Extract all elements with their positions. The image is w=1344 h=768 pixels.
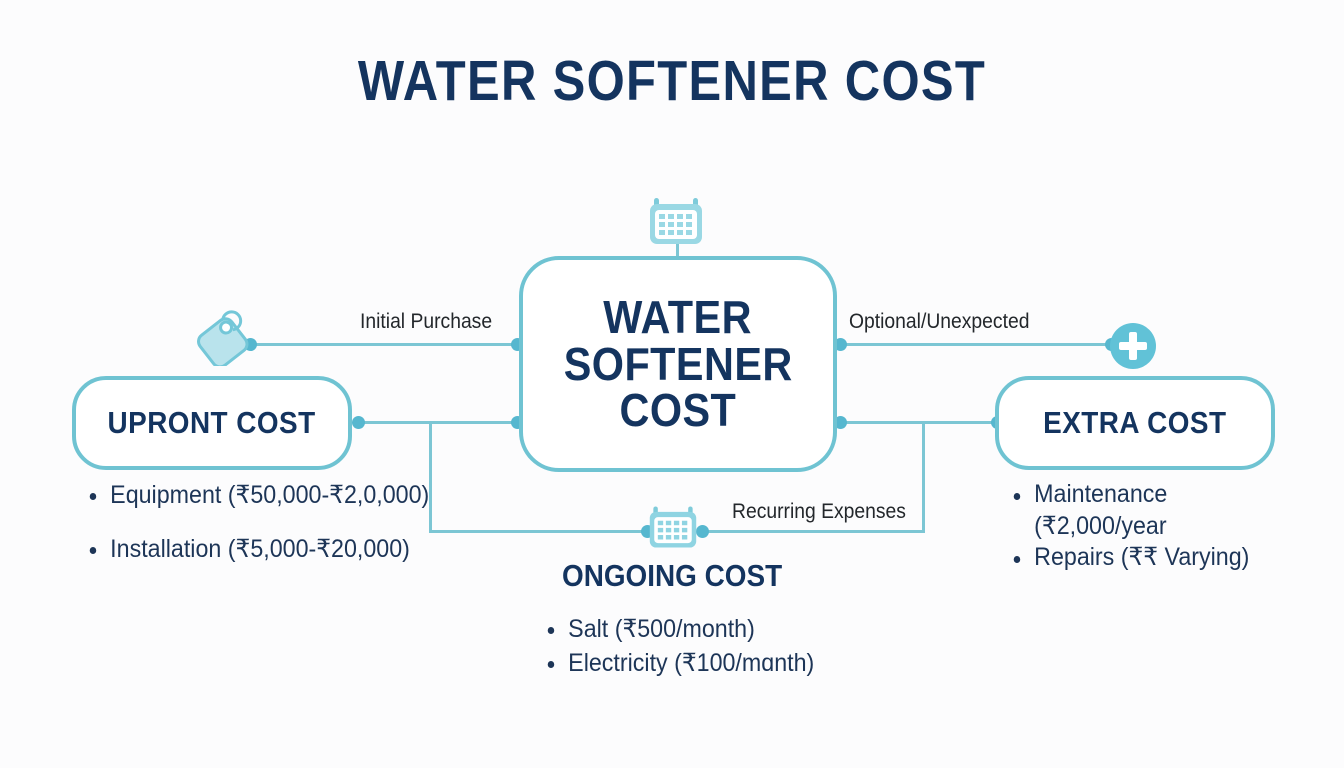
plus-circle-icon	[1108, 321, 1158, 371]
list-item-continuation: (₹2,000/year	[1010, 512, 1289, 542]
connector-line-bottom-right	[700, 530, 925, 533]
connector-label-optional-unexpected: Optional/Unexpected	[849, 310, 1029, 334]
list-item: Maintenance	[1010, 480, 1289, 510]
node-extra-cost[interactable]: EXTRA COST	[995, 376, 1275, 470]
calendar-icon	[648, 196, 704, 246]
connector-line-left-top	[248, 343, 523, 346]
list-item: Electricity (₹100/mɑnth)	[544, 648, 897, 678]
upfront-cost-list: Equipment (₹50,000-₹2,0,000) Installatio…	[86, 480, 486, 588]
infographic-canvas: WATER SOFTENER COST	[0, 0, 1344, 768]
bullet-dot	[548, 627, 555, 634]
bullet-dot	[548, 661, 555, 668]
bullet-dot	[90, 493, 97, 500]
list-item: Salt (₹500/month)	[544, 614, 897, 644]
list-item-text: Equipment (₹50,000-₹2,0,000)	[110, 481, 429, 509]
connector-dot-left-mid-start	[352, 416, 365, 429]
list-item: Installation (₹5,000-₹20,000)	[86, 534, 458, 564]
node-upfront-cost-label: UPRONT COST	[108, 405, 316, 441]
ongoing-cost-heading: ONGOING COST	[562, 558, 782, 594]
center-node-line-3: COST	[620, 387, 737, 434]
list-item-text: (₹2,000/year	[1034, 512, 1166, 540]
connector-line-left-mid	[356, 421, 521, 424]
bullet-dot	[1014, 556, 1021, 563]
extra-cost-list: Maintenance (₹2,000/year Repairs (₹₹ Var…	[1010, 480, 1310, 575]
price-tag-icon	[192, 304, 254, 366]
center-node-water-softener-cost[interactable]: WATER SOFTENER COST	[519, 256, 837, 472]
page-title: WATER SOFTENER COST	[94, 48, 1250, 114]
connector-line-right-top	[838, 343, 1116, 346]
node-extra-cost-label: EXTRA COST	[1043, 405, 1226, 441]
ongoing-cost-list: Salt (₹500/month) Electricity (₹100/mɑnt…	[544, 614, 924, 682]
list-item-text: Electricity (₹100/mɑnth)	[568, 649, 814, 677]
node-upfront-cost[interactable]: UPRONT COST	[72, 376, 352, 470]
list-item-text: Maintenance	[1034, 480, 1167, 508]
center-node-line-2: SOFTENER	[563, 341, 792, 388]
bullet-dot	[90, 547, 97, 554]
connector-line-right-mid	[838, 421, 998, 424]
list-item: Equipment (₹50,000-₹2,0,000)	[86, 480, 458, 510]
bullet-dot	[1014, 493, 1021, 500]
list-item: Repairs (₹₹ Varying)	[1010, 543, 1289, 573]
calendar-icon-bottom	[648, 504, 698, 550]
connector-line-right-drop	[922, 421, 925, 533]
connector-label-initial-purchase: Initial Purchase	[360, 310, 492, 334]
list-item-text: Installation (₹5,000-₹20,000)	[110, 535, 410, 563]
center-node-line-1: WATER	[604, 294, 753, 341]
list-item-text: Salt (₹500/month)	[568, 615, 755, 643]
connector-label-recurring-expenses: Recurring Expenses	[732, 500, 906, 524]
list-item-text: Repairs (₹₹ Varying)	[1034, 543, 1249, 571]
